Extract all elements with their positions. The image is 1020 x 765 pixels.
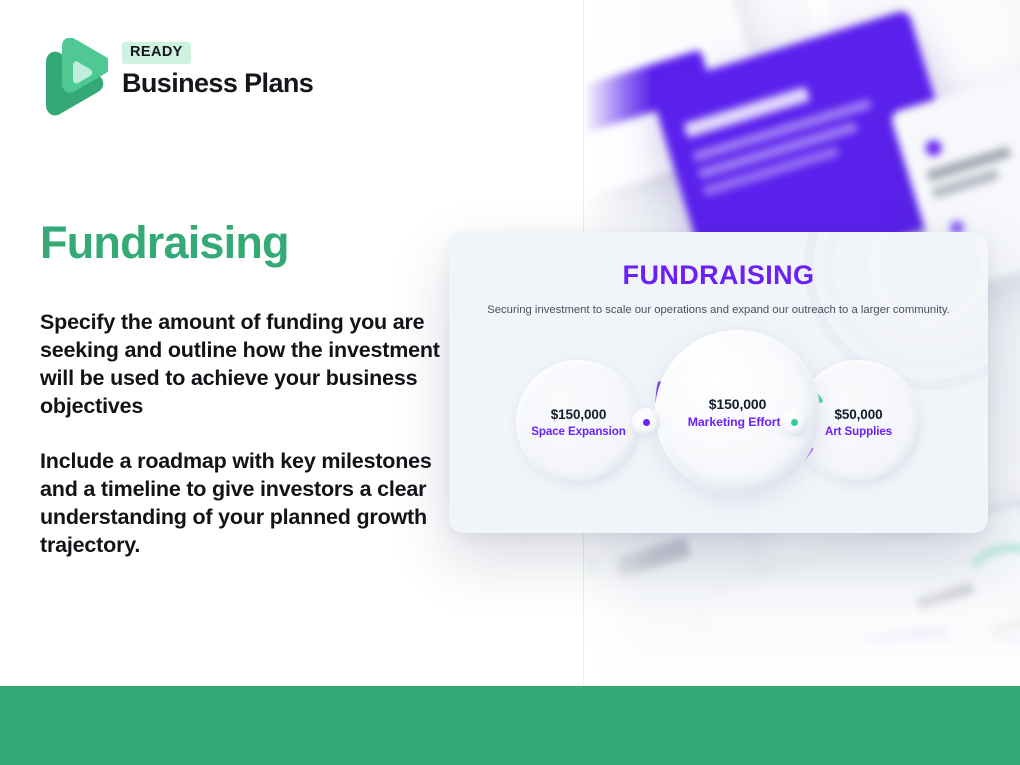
bubble-amount: $150,000 [709, 396, 767, 412]
card-subtitle: Securing investment to scale our operati… [449, 303, 988, 319]
bubble-amount: $150,000 [551, 407, 607, 422]
ready-badge: READY [122, 42, 191, 64]
body-paragraph-2: Include a roadmap with key milestones an… [40, 447, 440, 560]
bubble-amount: $50,000 [834, 407, 882, 422]
bubble-label: Space Expansion [531, 425, 626, 438]
footer-bar [0, 686, 1020, 765]
bubble-label: Marketing Efforts [688, 415, 787, 429]
card-title: FUNDRAISING [449, 260, 988, 291]
brand-name: Business Plans [122, 69, 313, 99]
connector-node-left [632, 408, 660, 436]
connector-dot-green [791, 419, 798, 426]
bubble-label: Art Supplies [825, 425, 892, 438]
brand-logo-block[interactable]: READY Business Plans [40, 38, 313, 116]
fundraising-preview-card[interactable]: FUNDRAISING Securing investment to scale… [449, 232, 988, 533]
connector-dot-purple [643, 419, 650, 426]
play-triangle-logo-icon [40, 38, 108, 116]
page-title: Fundraising [40, 218, 289, 268]
funding-circles-row: $150,000 Space Expansion $150,000 Market… [449, 338, 988, 518]
funding-bubble-space-expansion[interactable]: $150,000 Space Expansion [516, 360, 641, 485]
body-paragraph-1: Specify the amount of funding you are se… [40, 308, 440, 421]
connector-node-right [780, 408, 808, 436]
